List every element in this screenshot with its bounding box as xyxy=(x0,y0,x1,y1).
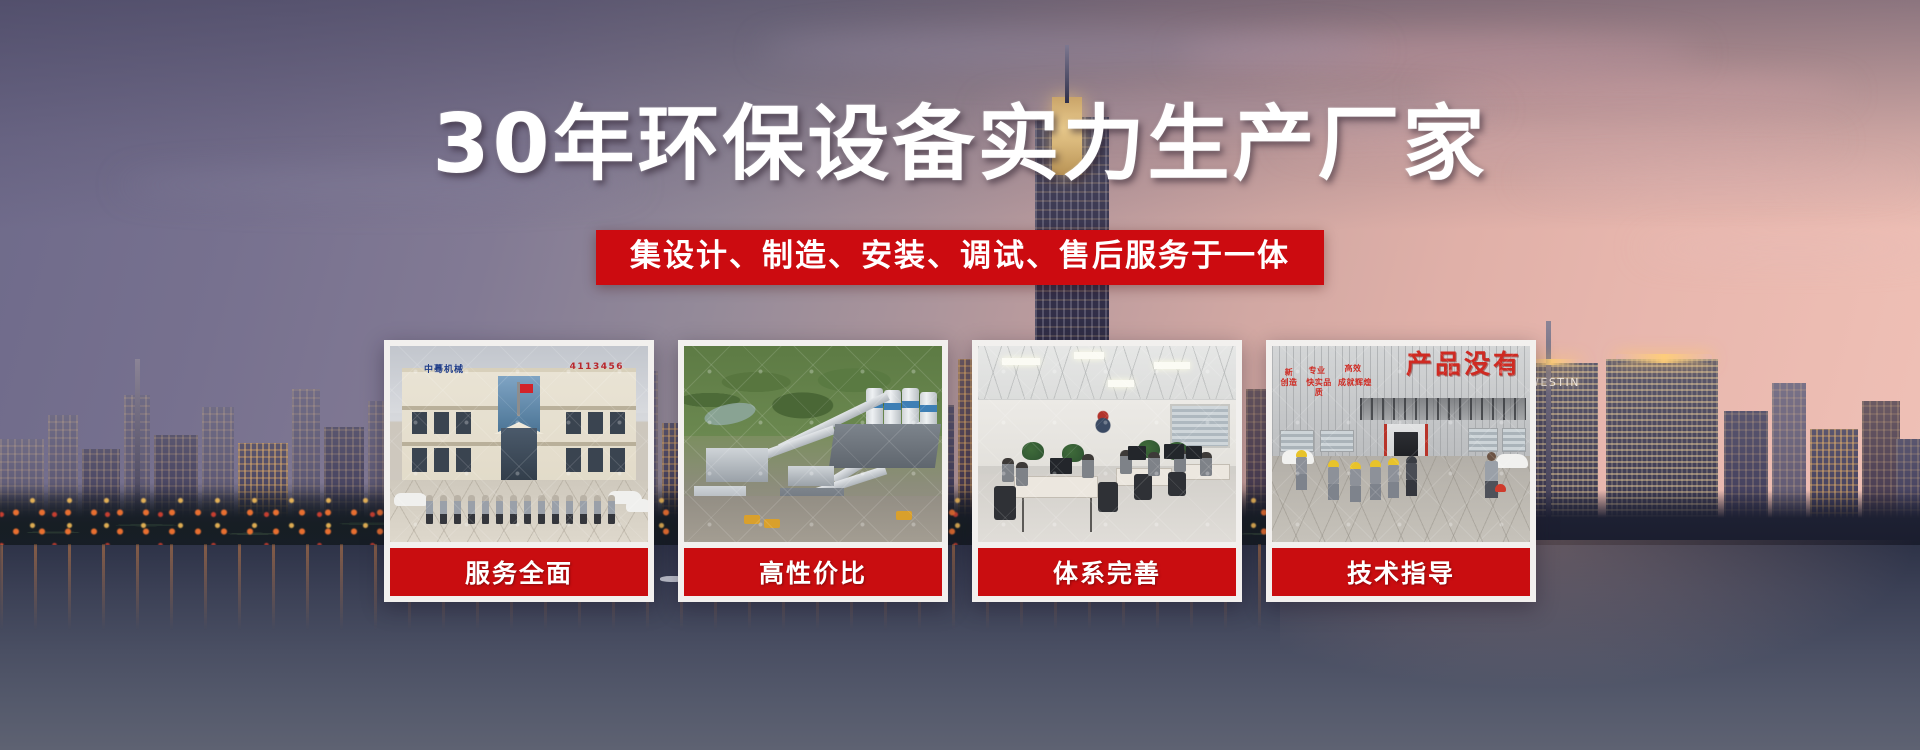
feature-card-label: 高性价比 xyxy=(684,548,942,596)
building-phone-number: 4113456 xyxy=(570,362,624,372)
subtitle-banner: 集设计、制造、安装、调试、售后服务于一体 xyxy=(596,230,1324,285)
worker xyxy=(1328,460,1339,500)
feature-card[interactable]: 体系完善 xyxy=(972,340,1242,602)
factory-slogan: 成就辉煌 xyxy=(1338,378,1372,388)
worker xyxy=(1388,458,1399,498)
aerial-plant-photo xyxy=(684,346,942,542)
wall-decal xyxy=(1082,408,1124,436)
worker xyxy=(1406,456,1417,496)
feature-card-label: 技术指导 xyxy=(1272,548,1530,596)
red-helmet xyxy=(1495,484,1506,492)
feature-card[interactable]: 中蓦机械 4113456 服务全面 xyxy=(384,340,654,602)
factory-slogan: 专业 xyxy=(1306,366,1328,376)
page-title: 30年环保设备实力生产厂家 xyxy=(0,104,1920,186)
factory-slogan: 快实品质 xyxy=(1304,378,1334,398)
feature-card[interactable]: 高性价比 xyxy=(678,340,948,602)
technical-training-photo: 产品没有 新创造 专业 快实品质 高效 成就辉煌 xyxy=(1272,346,1530,542)
worker xyxy=(1350,462,1361,502)
office-interior-photo xyxy=(978,346,1236,542)
tower-antenna xyxy=(1065,45,1069,103)
hero-banner: WESTIN 30年环保设备实力生产厂家 集设计、制造、安装、调试、售后服务于一… xyxy=(0,0,1920,750)
factory-wall-text: 产品没有 xyxy=(1406,352,1522,378)
factory-slogan: 新创造 xyxy=(1278,368,1300,388)
worker xyxy=(1296,450,1307,490)
feature-card[interactable]: 产品没有 新创造 专业 快实品质 高效 成就辉煌 xyxy=(1266,340,1536,602)
building-sign-text: 中蓦机械 xyxy=(424,362,464,375)
feature-card-label: 服务全面 xyxy=(390,548,648,596)
feature-card-label: 体系完善 xyxy=(978,548,1236,596)
factory-slogan: 高效 xyxy=(1342,364,1364,374)
worker xyxy=(1370,460,1381,500)
company-headquarters-photo: 中蓦机械 4113456 xyxy=(390,346,648,542)
feature-card-row: 中蓦机械 4113456 服务全面 xyxy=(384,340,1536,602)
